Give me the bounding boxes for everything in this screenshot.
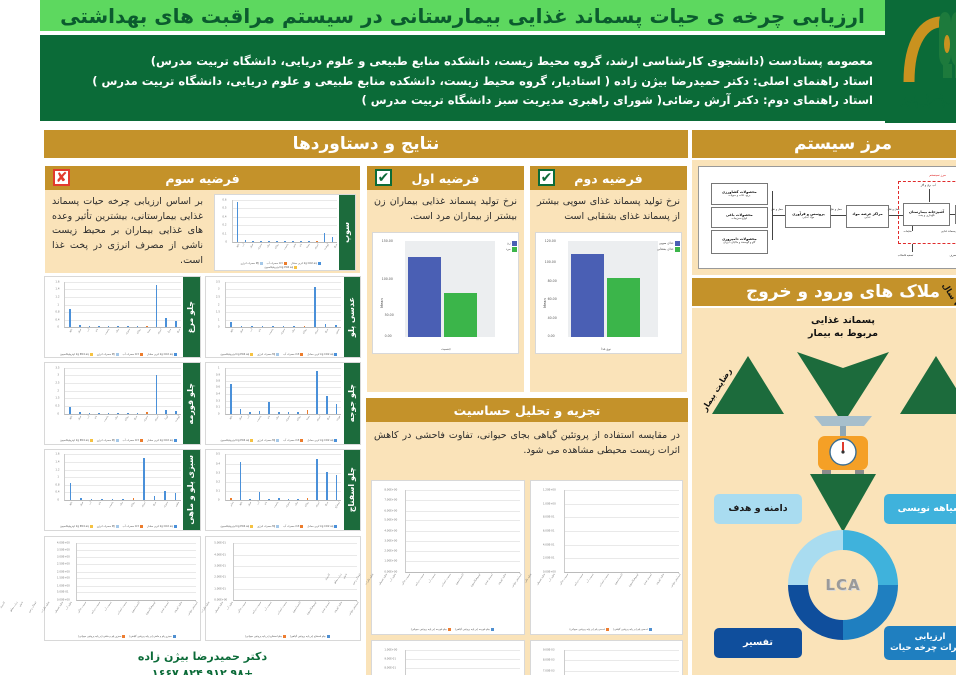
hypothesis-panel-1: فرضیه اول ✔ نرخ تولید پسماند غذایی بیمار… bbox=[326, 165, 485, 393]
x-axis-labels: عدسبرنج انرژیروغن نمکسبزی ماستنان آبحمل … bbox=[185, 328, 301, 341]
chart-bottom-veg-fish: 4.00E+00 3.50E+00 3.00E+00 2.50E+00 2.00… bbox=[4, 536, 161, 641]
hypothesis-1-label: فرضیه اول bbox=[372, 171, 440, 186]
chart-lc-veg-fish: سبزی پلو و ماهی bbox=[4, 449, 161, 531]
lca-chart-grid: عدسی پلو bbox=[4, 276, 321, 531]
section-title-system-boundary: مرز سیستم bbox=[652, 130, 954, 158]
edge-waste-out-2 bbox=[924, 244, 925, 252]
chart-legend: kg CO2 eq کربن معادل m3 مصرف آب MJ مصرف … bbox=[179, 525, 298, 528]
node-livestock: محصولات دامپروری گاو و گوسفند و ماکیان، … bbox=[671, 230, 729, 254]
chart-sens-lentil-plot: 1.20E+00 1.00E+00 8.00E-01 6.00E-01 4.00… bbox=[491, 481, 643, 634]
hypothesis-1-text: نرخ تولید پسماند غذایی بیماران زن بیشتر … bbox=[327, 190, 484, 229]
chart-sens-chicken-plot: 1.00E+00 9.00E-01 8.00E-01 7.00E-01 6.00… bbox=[332, 641, 484, 675]
hypothesis-2-header: فرضیه دوم ✔ bbox=[490, 166, 647, 190]
right-column: مرز سیستم محصولات کشاورزی برنج، غلات و ح… bbox=[650, 128, 956, 675]
plot-area: 1.00E+00 9.00E-01 8.00E-01 7.00E-01 6.00… bbox=[365, 650, 480, 675]
scale-center-label: پسماند غذایی مربوط به بیمار bbox=[768, 314, 838, 341]
chart-lc-stew-plot: 3.5 3 2.5 2 1.5 0.5 0 گوشتلوبیا انرژیسبز… bbox=[5, 363, 143, 443]
plot-area: 8.00E+00 7.00E+00 6.00E+00 5.00E+00 4.00… bbox=[365, 490, 480, 573]
hypothesis-panel-3: فرضیه سوم ✘ سوپ bbox=[4, 165, 321, 274]
bar-female bbox=[368, 257, 401, 336]
edge-patients-waste bbox=[924, 224, 925, 231]
lca-callout-impact[interactable]: ارزیابیتاثیرات چرخه حیات bbox=[844, 626, 936, 660]
chart-lc-spinach-side-label: چلو اسفناج bbox=[304, 450, 320, 530]
chart-lc-lentil: عدسی پلو bbox=[165, 276, 322, 358]
node-wastewater-label: ضایعات bbox=[863, 230, 871, 233]
chart-lc-stew: چلو قورمه bbox=[4, 362, 161, 444]
x-axis-labels: ماهیسبزی برنجانرژی روغننمک ماستنان آبحمل… bbox=[24, 501, 140, 514]
bar-male bbox=[404, 293, 437, 336]
page-title: ارزیابی چرخه ی حیات پسماند غذایی بیمارست… bbox=[0, 0, 845, 33]
chart-lc-veg-fish-side-label: سبزی پلو و ماهی bbox=[143, 450, 159, 530]
node-horticulture: محصولات باغی انواع سبزیجات bbox=[671, 207, 729, 227]
chart-lc-lentil-plot: 3.5 3 2.5 2 1.5 1 0 عدسبرنج انرژیروغن نم… bbox=[166, 277, 304, 357]
node-processing: پروسس و فرآوری مواد غذایی bbox=[745, 205, 791, 227]
plot-area: 3.5 3 2.5 2 1.5 1 0 bbox=[185, 282, 301, 329]
bar-series bbox=[25, 282, 140, 328]
plot-area: 0.5 0.4 0.3 0.2 0.1 0 bbox=[185, 454, 301, 501]
chart-legend: عدسی پلو (بر پایه پروتئین گیاهی) عدسی پل… bbox=[506, 628, 636, 631]
lca-center-text: LCA bbox=[785, 576, 820, 594]
edge-kitchen-waste bbox=[872, 226, 873, 231]
author-line: معصومه پستادست (دانشجوی کارشناسی ارشد، گ… bbox=[12, 53, 833, 70]
edge-waste-out-1 bbox=[872, 244, 873, 252]
chart-bottom-veg-fish-plot: 4.00E+00 3.50E+00 3.00E+00 2.50E+00 2.00… bbox=[5, 537, 160, 640]
chart-sens-kebab: 9.00E-03 8.00E-03 7.00E-03 6.00E-03 5.00… bbox=[490, 640, 644, 675]
chart-lc-stew-side-label: چلو قورمه bbox=[143, 363, 159, 443]
bar-series bbox=[193, 200, 296, 243]
contact-name: دکتر حمیدرضا بیژن زاده bbox=[4, 649, 321, 666]
sensitivity-chart-grid: 1.20E+00 1.00E+00 8.00E-01 6.00E-01 4.00… bbox=[331, 480, 643, 675]
bar-series bbox=[25, 368, 140, 414]
hypothesis-1-status-badge: ✔ bbox=[335, 169, 352, 186]
hypothesis-3-header: فرضیه سوم ✘ bbox=[5, 166, 320, 190]
plot-area: 9.00E-03 8.00E-03 7.00E-03 6.00E-03 5.00… bbox=[524, 650, 639, 675]
node-foodwaste-label: پسماند غذایی bbox=[901, 230, 916, 233]
poster-root: ارزیابی چرخه ی حیات پسماند غذایی بیمارست… bbox=[0, 0, 956, 675]
bar-series bbox=[186, 454, 301, 500]
bar-series bbox=[525, 650, 639, 675]
lca-callout-inventory[interactable]: سیاهه نویسی bbox=[844, 494, 936, 524]
x-axis-labels: برنجمرغ انرژیبسته روغنسبزی نمکماست نانآب… bbox=[24, 328, 140, 341]
hypothesis-pair: فرضیه دوم ✔ نرخ تولید پسماند غذای سوپی ب… bbox=[326, 165, 648, 393]
chart-legend: چلو قورمه (بر پایه پروتئین گیاهی) چلو قو… bbox=[347, 628, 477, 631]
chart-legend: kg CO2 eq کربن معادل m3 مصرف آب MJ مصرف … bbox=[19, 353, 138, 356]
chart-legend: kg CO2 eq کربن معادل m3 مصرف آب MJ مصرف … bbox=[179, 439, 298, 442]
university-logo bbox=[845, 0, 956, 123]
x-axis-labels: گرمایش جهانیتخلیه اوزون اسیدی شدناوتروفی… bbox=[365, 573, 480, 610]
chart-legend: kg CO2 eq کربن معادل m3 مصرف آب MJ مصرف … bbox=[19, 439, 138, 442]
node-hospital-kitchen: آشپزخانه بیمارستان نگهداری و پخت bbox=[863, 203, 909, 225]
author-block: معصومه پستادست (دانشجوی کارشناسی ارشد، گ… bbox=[0, 35, 845, 121]
plot-area: 0.6 0.5 0.4 0.2 0.1 0 bbox=[192, 200, 296, 244]
x-axis-labels: اسفناجبرنج انرژیروغن نمکسبزی ماستنان آبح… bbox=[185, 501, 301, 514]
hypothesis-3-label: فرضیه سوم bbox=[125, 171, 199, 186]
hypothesis-panel-2: فرضیه دوم ✔ نرخ تولید پسماند غذای سوپی ب… bbox=[489, 165, 648, 393]
plot-area: 5.00E-01 4.00E-01 3.00E-01 2.00E-01 1.00… bbox=[193, 543, 317, 601]
triangle-right bbox=[860, 356, 932, 414]
chart-legend: kg CO2 eq کربن معادل m3 مصرف آب MJ مصرف … bbox=[19, 525, 138, 528]
chart-lc-soup: سوپ bbox=[174, 194, 316, 271]
bar-series bbox=[525, 490, 639, 572]
x-axis-labels: گوشتلوبیا انرژیسبزی برنجروغن نمکماست نان… bbox=[24, 415, 140, 428]
lca-callout-scope[interactable]: دامنه و هدف bbox=[674, 494, 762, 524]
chart-sens-stew: 8.00E+00 7.00E+00 6.00E+00 5.00E+00 4.00… bbox=[331, 480, 485, 635]
supervisor-secondary-line: استاد راهنمای دوم: دکتر آرش رضائی( شورای… bbox=[12, 92, 833, 109]
x-axis-labels: برنجگوشت انرژیبسته نانشیر ماستروغن نمکسب… bbox=[192, 243, 296, 255]
supervisor-primary-line: استاد راهنمای اصلی: دکتر حمیدرضا بیژن زا… bbox=[12, 73, 833, 90]
section-title-sensitivity-text: تجزیه و تحلیل حساسیت bbox=[414, 403, 561, 418]
chart-h2: 120.00 100.00 80.00 60.00 40.00 0.00 Mea… bbox=[495, 232, 642, 354]
plot-area: 1.20E+00 1.00E+00 8.00E-01 6.00E-01 4.00… bbox=[524, 490, 639, 573]
chart-lc-chicken-side-label: چلو مرغ bbox=[143, 277, 159, 357]
chart-lc-soup-side-label: سوپ bbox=[299, 195, 315, 270]
edge-label-transport-2: حمل و نقل bbox=[790, 208, 802, 211]
node-agriculture: محصولات کشاورزی برنج، غلات و حبوبات bbox=[671, 183, 729, 205]
system-boundary-body: محصولات کشاورزی برنج، غلات و حبوبات محصو… bbox=[652, 160, 954, 275]
section-title-criteria-text: ملاک های ورود و خروج bbox=[706, 282, 900, 302]
bar-soup bbox=[531, 254, 564, 337]
system-boundary-diagram: محصولات کشاورزی برنج، غلات و حبوبات محصو… bbox=[658, 166, 948, 269]
x-axis-labels: جوجهبرنج انرژیبسته روغنسبزی نمکنان ماستآ… bbox=[185, 415, 301, 428]
chart-sens-chicken: 1.00E+00 9.00E-01 8.00E-01 7.00E-01 6.00… bbox=[331, 640, 485, 675]
chart-lc-kebab-plot: 1 0.9 0.8 0.6 0.4 0.3 0.1 0 جوجهبرنج انر… bbox=[166, 363, 304, 443]
lca-callout-impact-text: ارزیابیتاثیرات چرخه حیات bbox=[850, 632, 930, 653]
plot-area: 1.6 1.4 1.2 1 0.8 0.4 0 bbox=[24, 454, 140, 501]
contact-block: دکتر حمیدرضا بیژن زاده +۹۸ ۹۱۲ ۸۲۴ ۱۶۶۷ … bbox=[4, 646, 321, 675]
contact-phone: +۹۸ ۹۱۲ ۸۲۴ ۱۶۶۷ bbox=[4, 666, 321, 675]
bar-series bbox=[25, 454, 140, 500]
weighing-scale-icon bbox=[770, 414, 836, 480]
chart-legend: چلو اسفناج (بر پایه پروتئین گیاهی) چلو ا… bbox=[181, 635, 314, 638]
bar-series bbox=[186, 368, 301, 414]
chart-lc-lentil-side-label: عدسی پلو bbox=[304, 277, 320, 357]
hypothesis-3-status-badge: ✘ bbox=[13, 169, 30, 186]
middle-column: فرضیه دوم ✔ نرخ تولید پسماند غذای سوپی ب… bbox=[326, 128, 648, 675]
hypothesis-3-text: بر اساس ارزیابی چرخه حیات پسماند غذایی ب… bbox=[5, 190, 170, 275]
chart-sens-lentil: 1.20E+00 1.00E+00 8.00E-01 6.00E-01 4.00… bbox=[490, 480, 644, 635]
bar-series bbox=[366, 650, 480, 675]
section-title-sensitivity: تجزیه و تحلیل حساسیت bbox=[326, 398, 648, 422]
chart-legend: kg CO2 eq کربن معادل m3 مصرف آب MJ مصرف … bbox=[179, 353, 298, 356]
x-axis-labels: گرمایش جهانیتخلیه اوزون اسیدی شدناوتروفی… bbox=[36, 601, 157, 624]
edge-label-transport-1: حمل و نقل bbox=[731, 208, 743, 211]
bar-series bbox=[194, 543, 317, 600]
bar-series bbox=[186, 282, 301, 328]
chart-lc-kebab: چلو جوجه bbox=[165, 362, 322, 444]
chart-lc-chicken: چلو مرغ bbox=[4, 276, 161, 358]
output-wastewater-treatment: تصفیه فاضلاب bbox=[858, 254, 874, 257]
edge-processing-to-market bbox=[791, 215, 805, 216]
sensitivity-body: در مقایسه استفاده از پروتئین گیاهی بجای … bbox=[326, 422, 648, 675]
chart-h1: 150.00 100.00 50.00 0.00 Mean جنسیت زن م… bbox=[332, 232, 479, 354]
hypothesis-2-label: فرضیه دوم bbox=[534, 171, 602, 186]
section-title-system-boundary-text: مرز سیستم bbox=[754, 134, 852, 154]
bar-series bbox=[37, 543, 157, 600]
chart-lc-veg-fish-plot: 1.6 1.4 1.2 1 0.8 0.4 0 ماهیسبزی برنجانر… bbox=[5, 450, 143, 530]
bottom-paired-charts: 5.00E-01 4.00E-01 3.00E-01 2.00E-01 1.00… bbox=[4, 536, 321, 641]
edge-kitchen-to-patients bbox=[910, 214, 916, 215]
chart-lc-spinach-plot: 0.5 0.4 0.3 0.2 0.1 0 اسفناجبرنج انرژیرو… bbox=[166, 450, 304, 530]
chart-sens-stew-plot: 8.00E+00 7.00E+00 6.00E+00 5.00E+00 4.00… bbox=[332, 481, 484, 634]
plot-area: 1.6 1.4 1.2 1 0.8 0.4 0 bbox=[24, 282, 140, 329]
node-market: مراکز عرضه مواد غذایی bbox=[806, 205, 849, 227]
output-waste-disposal: دفع زباله، مصرف bbox=[910, 254, 929, 257]
hypothesis-2-status-badge: ✔ bbox=[498, 169, 515, 186]
chart-lc-soup-plot: 0.6 0.5 0.4 0.2 0.1 0 برنجگوشت انرژیبسته… bbox=[175, 195, 299, 270]
edge-utilities-down bbox=[889, 189, 890, 202]
plot-area: 1 0.9 0.8 0.6 0.4 0.3 0.1 0 bbox=[185, 368, 301, 415]
chart-legend: kg CO2 eq کربن معادل m3 مصرف آب MJ مصرف … bbox=[187, 262, 294, 269]
criteria-body: پسماند غذایی مربوط به بیمار رضایت بیمار … bbox=[652, 308, 954, 675]
bar-plate bbox=[567, 278, 600, 337]
chart-legend: سبزی پلو و ماهی (بر پایه پروتئین گیاهی) … bbox=[20, 635, 153, 638]
chart-lc-spinach: چلو اسفناج bbox=[165, 449, 322, 531]
chart-h1-legend: زن مرد bbox=[466, 241, 477, 252]
left-column: فرضیه سوم ✘ سوپ bbox=[0, 128, 325, 675]
lca-callout-interpretation[interactable]: تفسیر bbox=[674, 628, 762, 658]
boundary-label: مرز سیستم bbox=[889, 173, 906, 177]
plot-area: 4.00E+00 3.50E+00 3.00E+00 2.50E+00 2.00… bbox=[36, 543, 157, 601]
chart-sens-kebab-plot: 9.00E-03 8.00E-03 7.00E-03 6.00E-03 5.00… bbox=[491, 641, 643, 675]
chart-h2-legend: غذای سوپی غذای بشقابی bbox=[617, 241, 640, 252]
plot-area: 3.5 3 2.5 2 1.5 0.5 0 bbox=[24, 368, 140, 415]
x-axis-labels: گرمایش جهانیتخلیه اوزون اسیدی شدناوتروفی… bbox=[193, 601, 317, 624]
chart-lc-chicken-plot: 1.6 1.4 1.2 1 0.8 0.4 0 برنجمرغ انرژیبست… bbox=[5, 277, 143, 357]
hypothesis-1-header: فرضیه اول ✔ bbox=[327, 166, 484, 190]
poster-title-text: ارزیابی چرخه ی حیات پسماند غذایی بیمارست… bbox=[20, 4, 825, 28]
hypothesis-2-text: نرخ تولید پسماند غذای سوپی بیشتر از پسما… bbox=[490, 190, 647, 229]
sensitivity-description: در مقایسه استفاده از پروتئین گیاهی بجای … bbox=[326, 422, 648, 462]
x-axis-labels: گرمایش جهانیتخلیه اوزون اسیدی شدناوتروفی… bbox=[524, 573, 639, 610]
bar-series bbox=[366, 490, 480, 572]
chart-lc-kebab-side-label: چلو جوجه bbox=[304, 363, 320, 443]
node-patients: بیماران bbox=[915, 205, 941, 223]
top-input-label: آب، برق و گاز bbox=[881, 184, 896, 187]
tarbiat-modares-logo-icon bbox=[851, 6, 951, 118]
